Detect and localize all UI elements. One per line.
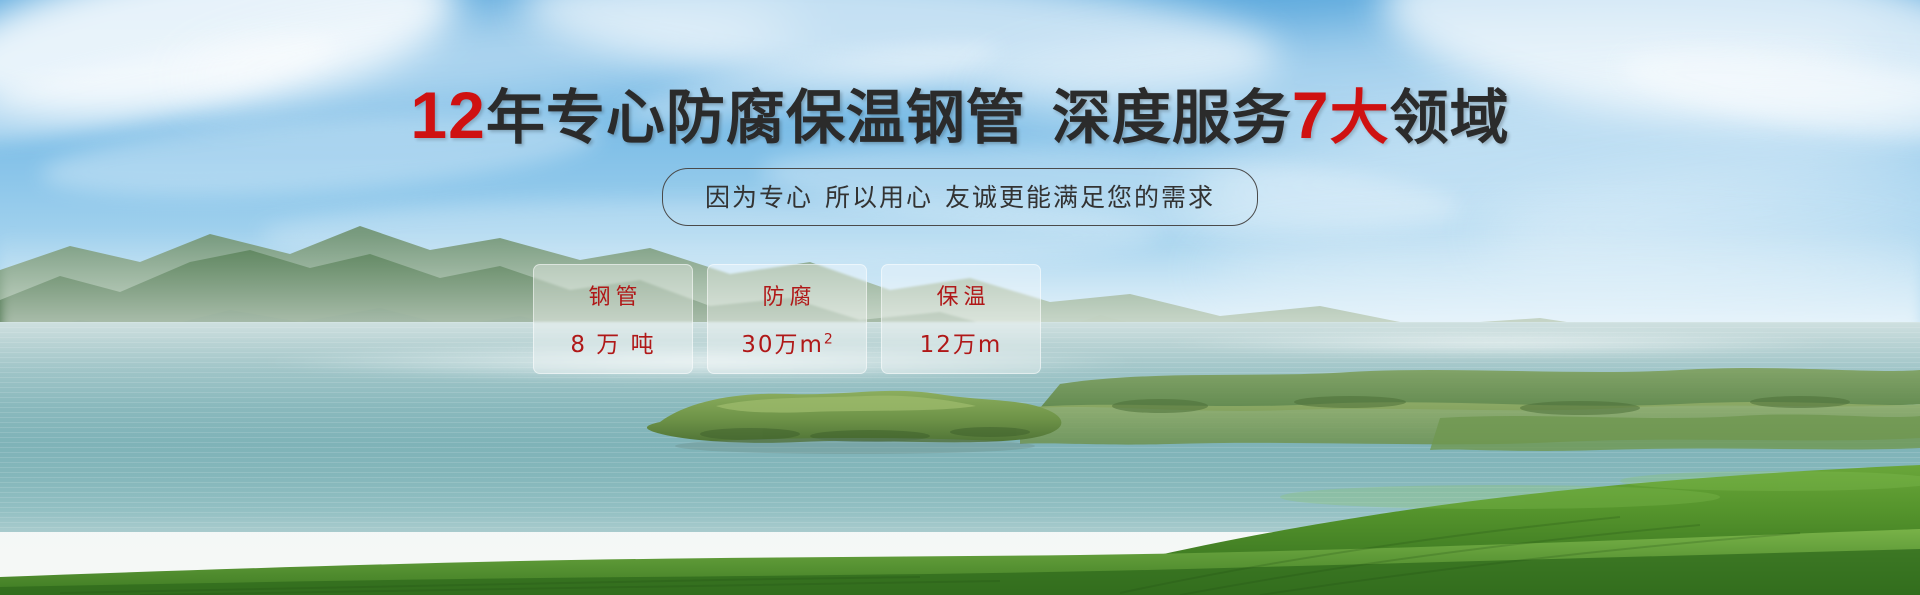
subtitle-part-3: 友诚更能满足您的需求	[945, 183, 1215, 212]
stat-card-title: 防腐	[757, 279, 816, 311]
headline-tail-text: 领域	[1390, 83, 1510, 152]
stat-card-value-text: 8 万 吨	[570, 332, 655, 358]
stat-card-value-text: 30万m	[741, 332, 824, 358]
headline-fields-unit: 大	[1330, 83, 1390, 152]
stat-card-anticorrosion[interactable]: 防腐 30万m2	[707, 264, 867, 374]
page-title: 12年专心防腐保温钢管深度服务7大领域	[0, 82, 1920, 148]
subtitle-part-1: 因为专心	[705, 183, 813, 212]
stat-card-value: 8 万 吨	[570, 325, 655, 359]
subtitle-pill: 因为专心所以用心友诚更能满足您的需求	[662, 168, 1258, 226]
stat-card-title: 钢管	[583, 279, 642, 311]
subtitle-container: 因为专心所以用心友诚更能满足您的需求	[0, 168, 1920, 226]
promo-banner: 12年专心防腐保温钢管深度服务7大领域 因为专心所以用心友诚更能满足您的需求 钢…	[0, 0, 1920, 595]
stat-card-title: 保温	[931, 279, 990, 311]
headline-years-suffix: 年	[486, 83, 546, 152]
stat-card-insulation[interactable]: 保温 12万m	[881, 264, 1041, 374]
headline-years-number: 12	[410, 78, 485, 152]
stat-card-value-text: 12万m	[920, 332, 1003, 358]
stat-card-list: 钢管 8 万 吨 防腐 30万m2 保温 12万m	[533, 264, 1041, 374]
banner-content: 12年专心防腐保温钢管深度服务7大领域 因为专心所以用心友诚更能满足您的需求 钢…	[0, 0, 1920, 595]
stat-card-value: 12万m	[920, 325, 1003, 359]
headline-main-text: 专心防腐保温钢管	[546, 83, 1026, 152]
stat-card-value-superscript: 2	[824, 331, 833, 347]
stat-card-value: 30万m2	[741, 325, 833, 359]
stat-card-steel-pipe[interactable]: 钢管 8 万 吨	[533, 264, 693, 374]
headline-fields-number: 7	[1292, 78, 1330, 152]
subtitle-part-2: 所以用心	[825, 183, 933, 212]
headline-second-text: 深度服务	[1052, 83, 1292, 152]
